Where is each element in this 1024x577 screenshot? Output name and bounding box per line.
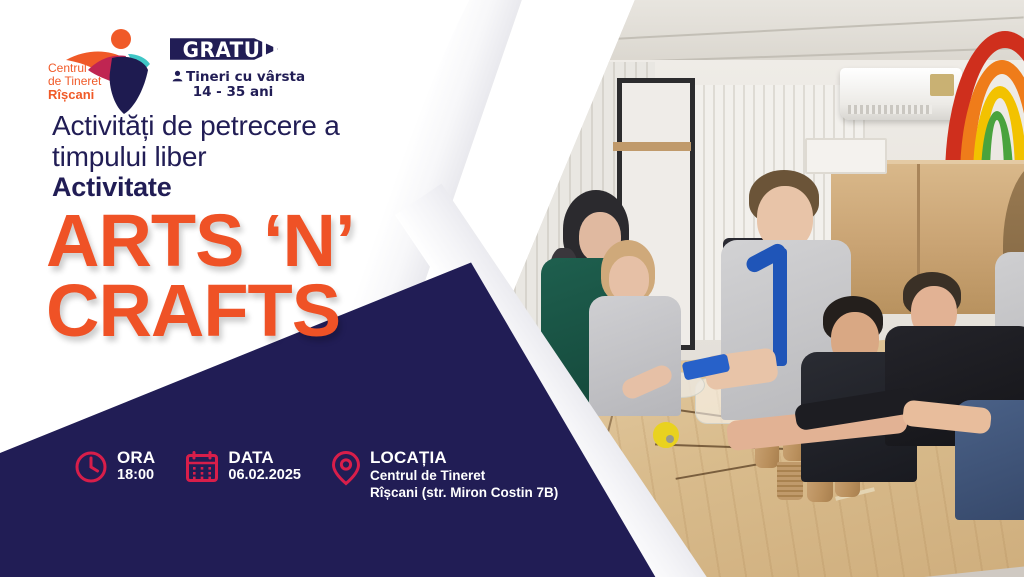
detail-time-label: ORA xyxy=(117,448,155,467)
detail-time: ORA 18:00 xyxy=(74,448,155,484)
event-poster: Centrul de Tineret Rîșcani GRATUIT Tiner… xyxy=(0,0,1024,577)
clock-icon xyxy=(74,450,108,484)
title-line-2: CRAFTS xyxy=(46,276,506,346)
air-conditioner xyxy=(840,68,962,120)
calendar-icon xyxy=(185,450,219,484)
white-box xyxy=(805,138,887,174)
user-icon xyxy=(172,70,183,82)
wall-shelf xyxy=(613,142,691,151)
kicker: Activități de petrecere a timpului liber xyxy=(52,110,452,172)
eligibility-note: Tineri cu vârsta 14 - 35 ani xyxy=(172,70,294,100)
detail-location-label: LOCAȚIA xyxy=(370,448,558,467)
masking-tape-roll xyxy=(653,422,679,448)
event-details: ORA 18:00 DATA 06.02.2025 xyxy=(74,448,558,501)
eligibility-line-1: Tineri cu vârsta xyxy=(186,69,305,85)
kicker-line-1: Activități de petrecere a xyxy=(52,110,452,141)
detail-time-value: 18:00 xyxy=(117,467,155,484)
location-pin-icon xyxy=(331,450,361,486)
detail-location-line-2: Rîșcani (str. Miron Costin 7B) xyxy=(370,484,558,501)
badge-label: GRATUIT xyxy=(183,38,283,62)
detail-location-line-1: Centrul de Tineret xyxy=(370,467,558,484)
detail-date: DATA 06.02.2025 xyxy=(185,448,301,484)
free-badge: GRATUIT xyxy=(170,34,278,64)
eligibility-line-2: 14 - 35 ani xyxy=(172,85,294,100)
page-title: ARTS ‘N’ CRAFTS xyxy=(46,206,506,346)
detail-location: LOCAȚIA Centrul de Tineret Rîșcani (str.… xyxy=(331,448,558,501)
logo-line-3: Rîșcani xyxy=(48,88,110,101)
detail-date-value: 06.02.2025 xyxy=(228,467,301,484)
paper-cup-stack xyxy=(777,462,803,500)
rainbow-wall-art xyxy=(945,38,1024,178)
centrul-de-tineret-riscani-logo[interactable]: Centrul de Tineret Rîșcani xyxy=(48,28,160,114)
kicker-line-2: timpului liber xyxy=(52,141,452,172)
detail-date-label: DATA xyxy=(228,448,301,467)
